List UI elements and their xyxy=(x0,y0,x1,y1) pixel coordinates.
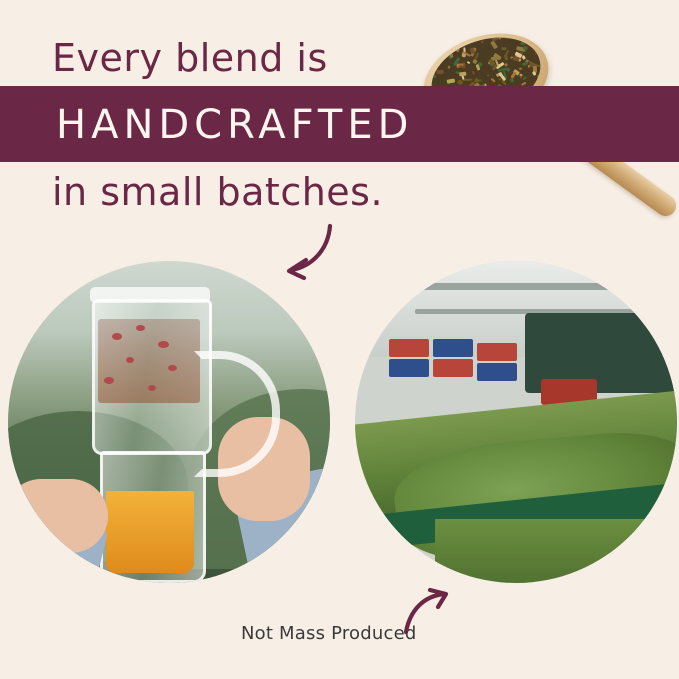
tea-leaf-fleck xyxy=(455,47,461,53)
hand-left xyxy=(8,479,108,553)
tea-leaf-fleck xyxy=(490,41,498,50)
promotional-image: Every blend is HANDCRAFTED in small batc… xyxy=(0,0,679,679)
tea-petal xyxy=(148,385,156,391)
tea-leaf-fleck xyxy=(504,67,509,71)
tea-leaf-fleck xyxy=(523,46,528,51)
tea-leaf-fleck xyxy=(457,80,463,86)
glass-tea-steeper-held-in-hands-outdoors xyxy=(8,261,330,583)
tea-leaf-fleck xyxy=(482,45,486,50)
tea-leaf-fleck xyxy=(450,53,454,58)
brewed-tea-in-mug xyxy=(106,491,194,573)
headline-line-1: Every blend is xyxy=(52,36,328,80)
tea-petal xyxy=(112,333,122,340)
tea-leaves-on-factory-conveyor-belt xyxy=(355,261,677,583)
stacked-crate xyxy=(433,339,473,357)
stacked-crate xyxy=(389,359,429,377)
falling-tea-leaves xyxy=(435,519,645,583)
tea-petal xyxy=(136,325,145,331)
tea-leaf-fleck xyxy=(490,78,495,83)
tea-leaf-fleck xyxy=(437,70,444,75)
tea-leaf-fleck xyxy=(481,40,484,44)
stacked-crate xyxy=(477,343,517,361)
tea-leaf-fleck xyxy=(519,67,523,70)
tea-leaf-fleck xyxy=(472,59,478,64)
tea-leaf-fleck xyxy=(504,54,508,60)
tea-petal xyxy=(126,357,134,363)
ceiling-beam xyxy=(375,283,675,290)
caption-not-mass-produced: Not Mass Produced xyxy=(241,623,416,644)
tea-leaf-fleck xyxy=(505,34,510,39)
headline-line-3: in small batches. xyxy=(52,170,383,214)
tea-leaf-fleck xyxy=(446,78,455,83)
tea-leaf-fleck xyxy=(463,79,472,81)
tea-leaf-fleck xyxy=(532,48,535,56)
tea-leaf-fleck xyxy=(459,65,466,69)
tea-leaf-fleck xyxy=(486,74,489,77)
tea-leaf-fleck xyxy=(513,56,520,61)
tea-petal xyxy=(104,377,114,384)
tea-leaf-fleck xyxy=(504,63,508,67)
stacked-crate xyxy=(389,339,429,357)
tea-petal xyxy=(158,341,169,348)
tea-leaf-fleck xyxy=(523,76,527,80)
stacked-crate xyxy=(433,359,473,377)
tea-leaf-fleck xyxy=(506,49,510,55)
tea-leaf-fleck xyxy=(510,78,513,82)
tea-leaf-fleck xyxy=(520,29,524,33)
tea-petal xyxy=(168,365,177,371)
stacked-crate xyxy=(477,363,517,381)
tea-leaf-fleck xyxy=(448,65,451,69)
headline-line-2: HANDCRAFTED xyxy=(56,102,413,148)
tea-leaf-fleck xyxy=(472,71,476,75)
tea-leaf-fleck xyxy=(467,61,471,65)
